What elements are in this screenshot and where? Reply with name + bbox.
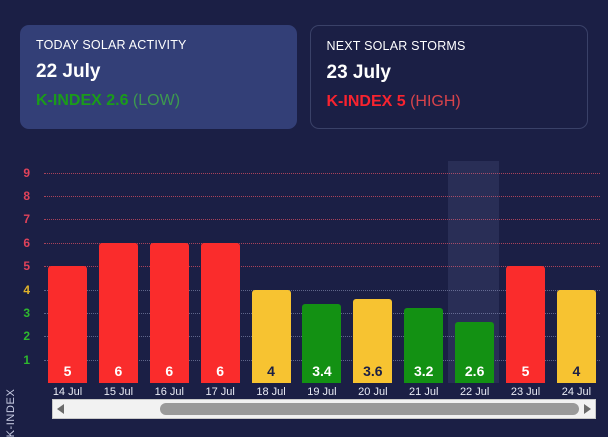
bar-value-label: 6: [114, 363, 122, 383]
y-tick-5: 5: [23, 259, 30, 273]
bar-15-jul[interactable]: 6: [99, 243, 138, 383]
x-tick-23-jul: 23 Jul: [506, 386, 545, 398]
y-tick-6: 6: [23, 236, 30, 250]
card-date: 22 July: [36, 59, 281, 84]
card-today-solar-activity[interactable]: TODAY SOLAR ACTIVITY 22 July K-INDEX 2.6…: [20, 25, 297, 129]
bar-24-jul[interactable]: 4: [557, 290, 596, 383]
y-tick-9: 9: [23, 166, 30, 180]
bar-16-jul[interactable]: 6: [150, 243, 189, 383]
bar-value-label: 3.6: [363, 363, 382, 383]
y-axis-title-text: K-INDEX: [5, 385, 17, 437]
bar-column[interactable]: 3.4: [302, 161, 341, 383]
bar-value-label: 3.4: [312, 363, 331, 383]
bar-23-jul[interactable]: 5: [506, 266, 545, 383]
x-tick-15-jul: 15 Jul: [99, 386, 138, 398]
bar-column[interactable]: 6: [201, 161, 240, 383]
y-tick-8: 8: [23, 189, 30, 203]
bar-value-label: 5: [522, 363, 530, 383]
bar-20-jul[interactable]: 3.6: [353, 299, 392, 383]
summary-cards: TODAY SOLAR ACTIVITY 22 July K-INDEX 2.6…: [20, 25, 588, 129]
x-tick-20-jul: 20 Jul: [353, 386, 392, 398]
card-title: NEXT SOLAR STORMS: [327, 39, 572, 54]
x-tick-21-jul: 21 Jul: [404, 386, 443, 398]
x-tick-14-jul: 14 Jul: [48, 386, 87, 398]
scroll-right-arrow-icon[interactable]: [579, 400, 595, 418]
bar-17-jul[interactable]: 6: [201, 243, 240, 383]
y-tick-7: 7: [23, 212, 30, 226]
x-tick-18-jul: 18 Jul: [252, 386, 291, 398]
y-tick-3: 3: [23, 306, 30, 320]
card-kindex-level: (HIGH): [410, 93, 461, 110]
card-kindex: K-INDEX 2.6 (LOW): [36, 90, 281, 112]
bar-18-jul[interactable]: 4: [252, 290, 291, 383]
x-axis-labels: 14 Jul15 Jul16 Jul17 Jul18 Jul19 Jul20 J…: [44, 386, 600, 398]
card-next-solar-storms[interactable]: NEXT SOLAR STORMS 23 July K-INDEX 5 (HIG…: [310, 25, 589, 129]
bar-14-jul[interactable]: 5: [48, 266, 87, 383]
y-tick-1: 1: [23, 353, 30, 367]
bar-column[interactable]: 4: [252, 161, 291, 383]
kindex-bar-chart: 123456789 566643.43.63.22.654 14 Jul15 J…: [0, 148, 608, 398]
card-kindex-value: K-INDEX 2.6: [36, 92, 128, 109]
bar-22-jul[interactable]: 2.6: [455, 322, 494, 383]
bar-column[interactable]: 6: [150, 161, 189, 383]
bar-column[interactable]: 3.6: [353, 161, 392, 383]
x-tick-16-jul: 16 Jul: [150, 386, 189, 398]
bar-column[interactable]: 5: [48, 161, 87, 383]
y-tick-2: 2: [23, 329, 30, 343]
bar-value-label: 2.6: [465, 363, 484, 383]
card-kindex: K-INDEX 5 (HIGH): [327, 91, 572, 113]
card-kindex-level: (LOW): [133, 92, 180, 109]
bar-19-jul[interactable]: 3.4: [302, 304, 341, 383]
horizontal-scrollbar[interactable]: [52, 399, 596, 419]
y-tick-4: 4: [23, 283, 30, 297]
bar-21-jul[interactable]: 3.2: [404, 308, 443, 383]
bar-column[interactable]: 2.6: [455, 161, 494, 383]
y-axis-labels: 123456789: [0, 161, 40, 383]
bar-series: 566643.43.63.22.654: [44, 161, 600, 383]
x-tick-17-jul: 17 Jul: [201, 386, 240, 398]
bar-value-label: 6: [165, 363, 173, 383]
bar-column[interactable]: 3.2: [404, 161, 443, 383]
x-tick-24-jul: 24 Jul: [557, 386, 596, 398]
card-kindex-value: K-INDEX 5: [327, 93, 406, 110]
card-date: 23 July: [327, 60, 572, 85]
bar-column[interactable]: 6: [99, 161, 138, 383]
bar-column[interactable]: 4: [557, 161, 596, 383]
card-title: TODAY SOLAR ACTIVITY: [36, 38, 281, 53]
scrollbar-track[interactable]: [69, 400, 579, 418]
y-axis-title: K-INDEX: [1, 381, 17, 437]
bar-column[interactable]: 5: [506, 161, 545, 383]
bar-value-label: 3.2: [414, 363, 433, 383]
bar-value-label: 4: [573, 363, 581, 383]
bar-value-label: 5: [64, 363, 72, 383]
x-tick-22-jul: 22 Jul: [455, 386, 494, 398]
scroll-left-arrow-icon[interactable]: [53, 400, 69, 418]
scrollbar-thumb[interactable]: [160, 403, 579, 415]
bar-value-label: 6: [216, 363, 224, 383]
bar-value-label: 4: [267, 363, 275, 383]
x-tick-19-jul: 19 Jul: [302, 386, 341, 398]
